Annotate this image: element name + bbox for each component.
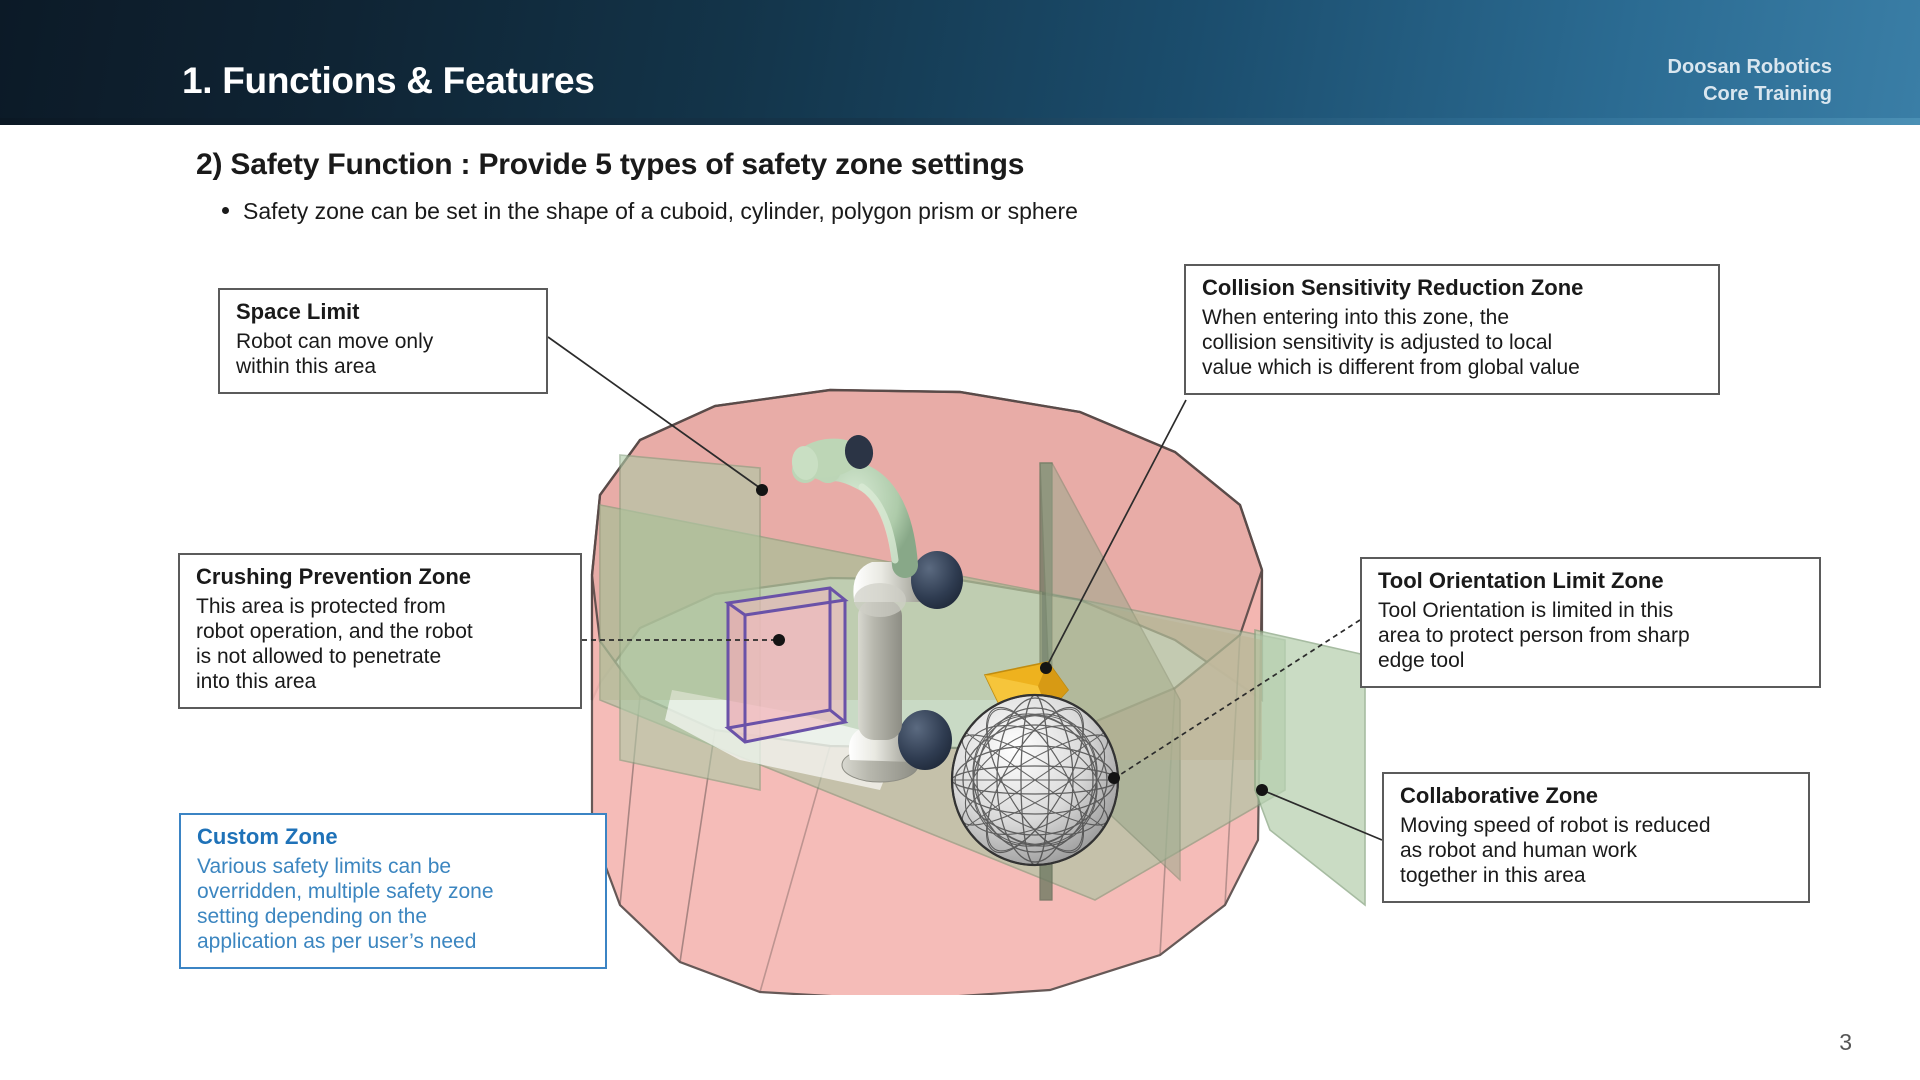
callout-collaborative-zone[interactable]: Collaborative Zone Moving speed of robot…: [1382, 772, 1810, 903]
prism-floor-highlight: [665, 690, 900, 790]
page-number: 3: [1839, 1029, 1852, 1056]
bullet-dot-icon: [222, 207, 229, 214]
callout-title: Crushing Prevention Zone: [196, 564, 566, 591]
leader-collision: [1046, 400, 1186, 668]
tool-wedge: [985, 662, 1068, 712]
callout-collision-sensitivity-reduction-zone[interactable]: Collision Sensitivity Reduction Zone Whe…: [1184, 264, 1720, 395]
page-title: 1. Functions & Features: [182, 60, 595, 102]
brand-block: Doosan Robotics Core Training: [1668, 54, 1832, 108]
tool-orientation-sphere: [922, 667, 1148, 892]
callout-body: When entering into this zone, the collis…: [1202, 306, 1704, 381]
leader-dot-tool-orientation: [1108, 772, 1120, 784]
leader-tool-orientation: [1115, 620, 1360, 778]
leader-dot-collision: [1040, 662, 1052, 674]
leader-space-limit: [548, 337, 760, 488]
callout-body: Tool Orientation is limited in this area…: [1378, 599, 1805, 674]
section-bullet: Safety zone can be set in the shape of a…: [222, 198, 1078, 225]
callout-title: Space Limit: [236, 299, 532, 326]
callout-body: Various safety limits can be overridden,…: [197, 855, 591, 955]
leader-collaborative: [1262, 790, 1382, 840]
plane-prism-overlap: [600, 505, 1262, 760]
leader-dot-space-limit: [756, 484, 768, 496]
brand-line-1: Doosan Robotics: [1668, 54, 1832, 81]
collision-plane-left: [620, 455, 760, 790]
header-accent-stripe: [0, 118, 1920, 125]
callout-title: Custom Zone: [197, 824, 591, 851]
callout-body: Robot can move only within this area: [236, 330, 532, 380]
leader-dot-collaborative: [1256, 784, 1268, 796]
callout-custom-zone[interactable]: Custom Zone Various safety limits can be…: [179, 813, 607, 969]
bullet-text: Safety zone can be set in the shape of a…: [243, 198, 1078, 224]
callout-title: Tool Orientation Limit Zone: [1378, 568, 1805, 595]
callout-body: This area is protected from robot operat…: [196, 595, 566, 695]
crushing-cuboid: [728, 588, 845, 742]
callout-title: Collision Sensitivity Reduction Zone: [1202, 275, 1704, 302]
leader-dot-crushing: [773, 634, 785, 646]
collaborative-plane-right-wing: [1255, 630, 1365, 905]
callout-crushing-prevention-zone[interactable]: Crushing Prevention Zone This area is pr…: [178, 553, 582, 709]
callout-tool-orientation-limit-zone[interactable]: Tool Orientation Limit Zone Tool Orienta…: [1360, 557, 1821, 688]
callout-space-limit[interactable]: Space Limit Robot can move only within t…: [218, 288, 548, 394]
callout-title: Collaborative Zone: [1400, 783, 1794, 810]
callout-body: Moving speed of robot is reduced as robo…: [1400, 814, 1794, 889]
robot-arm: [790, 433, 963, 782]
slide-header-bar: 1. Functions & Features Doosan Robotics …: [0, 0, 1920, 125]
space-limit-prism: [592, 390, 1262, 1000]
brand-line-2: Core Training: [1668, 81, 1832, 108]
section-heading: 2) Safety Function : Provide 5 types of …: [196, 148, 1024, 182]
collaborative-plane: [600, 505, 1285, 900]
collision-plane-right: [1040, 463, 1180, 900]
